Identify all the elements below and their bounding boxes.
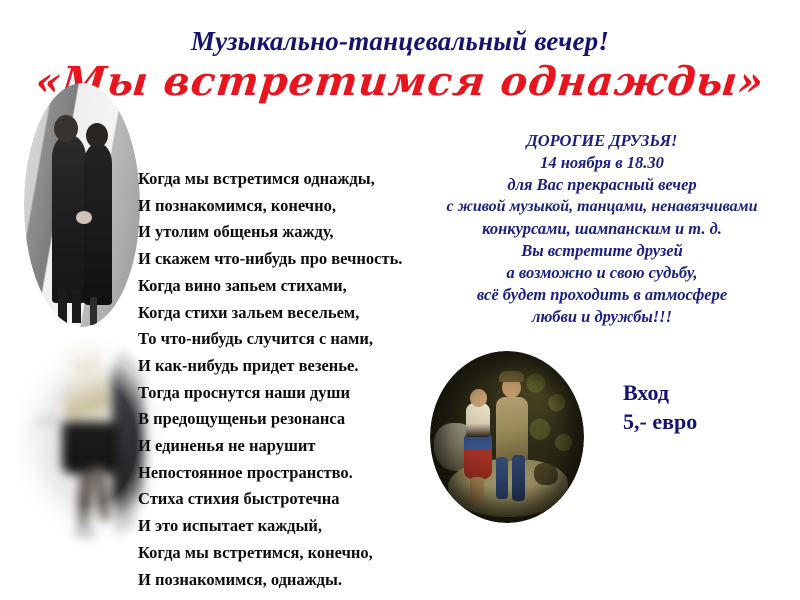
photo-couple-man-leg-left xyxy=(58,289,67,323)
photo-couple-man-leg-right xyxy=(72,289,81,323)
poem-author: Петр Давыдов xyxy=(138,593,438,600)
painting-vignette xyxy=(430,351,584,523)
photo-couple-blackwhite xyxy=(24,83,140,327)
photo-couple-hands xyxy=(76,211,92,224)
invitation-line: Вы встретите друзей xyxy=(404,240,800,262)
poem-line: То что-нибудь случится с нами, xyxy=(138,326,438,353)
poster-title-main: Музыкально-танцевальный вечер! xyxy=(0,26,800,57)
poem-block: Когда мы встретимся однажды, И познакоми… xyxy=(138,166,438,600)
poem-line: И утолим общенья жажду, xyxy=(138,219,438,246)
photo-oil-painting-couple xyxy=(430,351,584,523)
poem-line: И как-нибудь придет везенье. xyxy=(138,353,438,380)
poem-line: Стиха стихия быстротечна xyxy=(138,486,438,513)
poem-line: Когда стихи зальем весельем, xyxy=(138,300,438,327)
poem-line: Когда мы встретимся однажды, xyxy=(138,166,438,193)
poster-title-script: «Мы встретимся однажды» xyxy=(0,58,800,105)
photo-couple-woman-leg xyxy=(90,297,97,325)
entry-price-block: Вход 5,- евро xyxy=(623,378,697,436)
poem-line: Когда мы встретимся, конечно, xyxy=(138,540,438,567)
invitation-block: ДОРОГИЕ ДРУЗЬЯ! 14 ноября в 18.30 для Ва… xyxy=(404,130,800,328)
entry-price-amount: 5,- евро xyxy=(623,407,697,436)
invitation-line: с живой музыкой, танцами, ненавязчивами xyxy=(404,196,800,218)
poem-line: И это испытает каждый, xyxy=(138,513,438,540)
photo-couple-woman-head xyxy=(86,123,108,148)
poem-line: И познакомимся, конечно, xyxy=(138,193,438,220)
photo-couple-woman-body xyxy=(84,143,112,305)
invitation-line: для Вас прекрасный вечер xyxy=(404,174,800,196)
invitation-line: конкурсами, шампанским и т. д. xyxy=(404,218,800,240)
poem-line: В предощущеньи резонанса xyxy=(138,406,438,433)
poster-canvas: Музыкально-танцевальный вечер! «Мы встре… xyxy=(0,0,800,600)
poem-line: И познакомимся, однажды. xyxy=(138,567,438,594)
entry-price-label: Вход xyxy=(623,378,697,407)
invitation-line: а возможно и свою судьбу, xyxy=(404,262,800,284)
poem-line: Когда вино запьем стихами, xyxy=(138,273,438,300)
poem-line: Непостоянное пространство. xyxy=(138,460,438,487)
invitation-line: любви и дружбы!!! xyxy=(404,306,800,328)
poem-line: И единенья не нарушит xyxy=(138,433,438,460)
invitation-line: 14 ноября в 18.30 xyxy=(404,152,800,174)
invitation-line: всё будет проходить в атмосфере xyxy=(404,284,800,306)
poem-line: Тогда проснутся наши души xyxy=(138,380,438,407)
invitation-line: ДОРОГИЕ ДРУЗЬЯ! xyxy=(404,130,800,152)
photo-couple-man-head xyxy=(54,115,78,142)
poem-line: И скажем что-нибудь про вечность. xyxy=(138,246,438,273)
